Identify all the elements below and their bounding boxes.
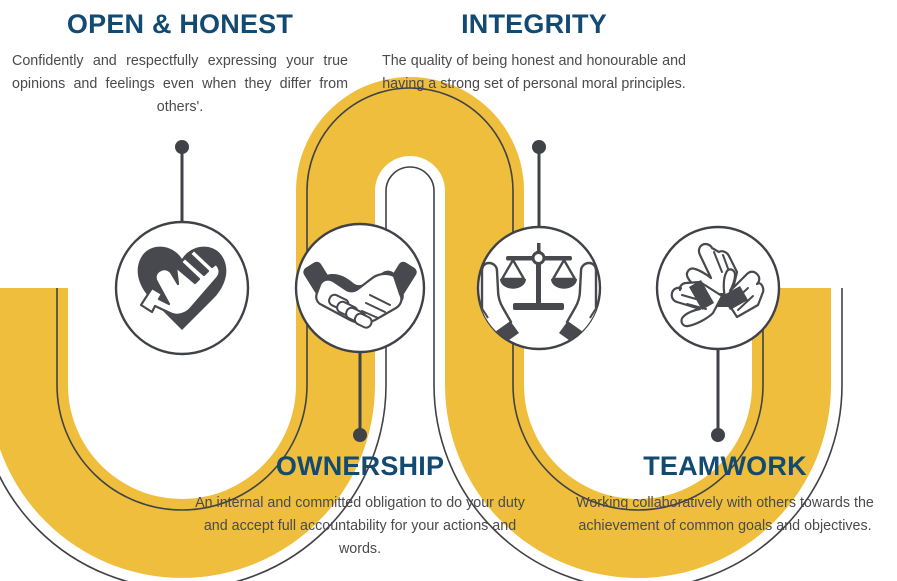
connector-dot-integrity (532, 140, 546, 154)
value-description-teamwork: Working collaboratively with others towa… (565, 492, 885, 538)
value-block-open-honest: OPEN & HONEST Confidently and respectful… (12, 10, 348, 119)
value-title-open-honest: OPEN & HONEST (12, 10, 348, 40)
value-title-ownership: OWNERSHIP (185, 452, 535, 482)
value-title-teamwork: TEAMWORK (565, 452, 885, 482)
connector-dot-open-honest (175, 140, 189, 154)
connector-dot-teamwork (711, 428, 725, 442)
value-description-ownership: An internal and committed obligation to … (185, 492, 535, 561)
value-block-teamwork: TEAMWORK Working collaboratively with ot… (565, 452, 885, 538)
infographic-canvas: OPEN & HONEST Confidently and respectful… (0, 0, 897, 581)
value-block-ownership: OWNERSHIP An internal and committed obli… (185, 452, 535, 561)
value-block-integrity: INTEGRITY The quality of being honest an… (382, 10, 686, 96)
icon-circle-ownership[interactable] (296, 224, 424, 352)
value-description-open-honest: Confidently and respectfully expressing … (12, 50, 348, 119)
value-title-integrity: INTEGRITY (382, 10, 686, 40)
icon-circle-teamwork[interactable] (657, 227, 779, 349)
connector-dot-ownership (353, 428, 367, 442)
value-description-integrity: The quality of being honest and honourab… (382, 50, 686, 96)
icon-circle-open-honest[interactable] (116, 222, 248, 354)
